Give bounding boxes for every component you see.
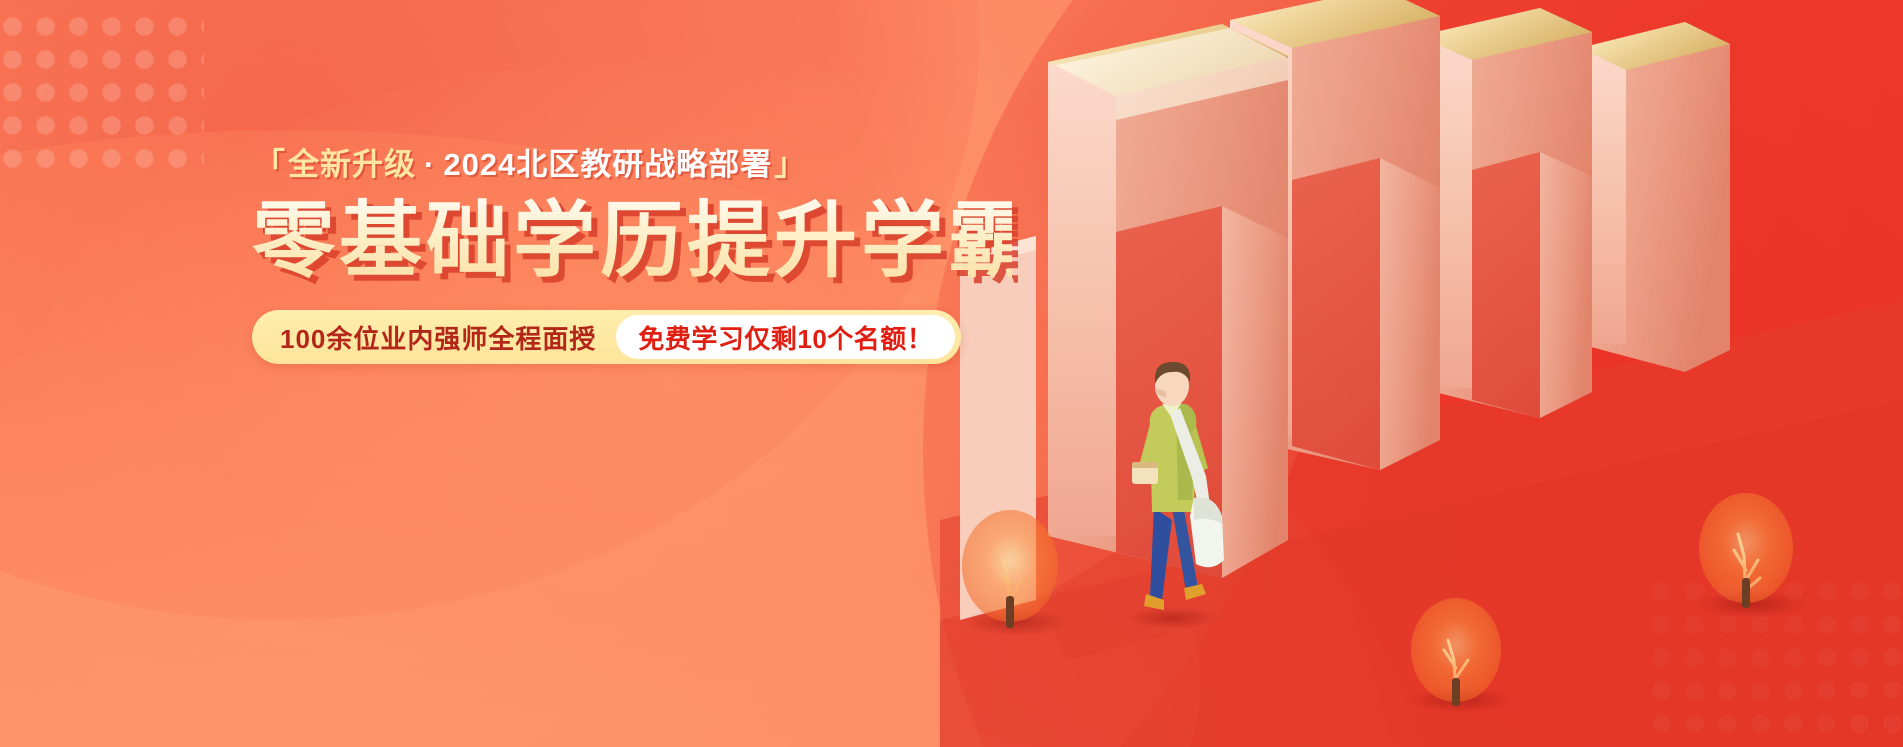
eyebrow-bracket-open: 「 bbox=[254, 147, 286, 182]
banner-copy: 「全新升级·2024北区教研战略部署」 零基础学历提升学霸班 100余位业内强师… bbox=[252, 146, 1012, 364]
banner-pill-group[interactable]: 100余位业内强师全程面授 免费学习仅剩10个名额！ bbox=[252, 310, 961, 364]
pill-seats-left-badge[interactable]: 免费学习仅剩10个名额！ bbox=[616, 315, 955, 359]
eyebrow-separator: · bbox=[416, 147, 443, 182]
banner-headline: 零基础学历提升学霸班 bbox=[252, 197, 1012, 284]
eyebrow-highlight: 全新升级 bbox=[288, 147, 416, 182]
pill-teacher-count-label: 100余位业内强师全程面授 bbox=[280, 319, 616, 356]
book-arch-3 bbox=[1418, 8, 1592, 418]
banner-eyebrow: 「全新升级·2024北区教研战略部署」 bbox=[252, 146, 1012, 183]
book-arch-4 bbox=[1580, 22, 1730, 372]
dot-grid-top-left bbox=[0, 10, 204, 182]
eyebrow-rest: 2024北区教研战略部署 bbox=[443, 147, 772, 182]
book-archway-illustration bbox=[940, 0, 1903, 747]
promo-banner: 「全新升级·2024北区教研战略部署」 零基础学历提升学霸班 100余位业内强师… bbox=[0, 0, 1903, 747]
eyebrow-bracket-close: 」 bbox=[774, 147, 806, 182]
